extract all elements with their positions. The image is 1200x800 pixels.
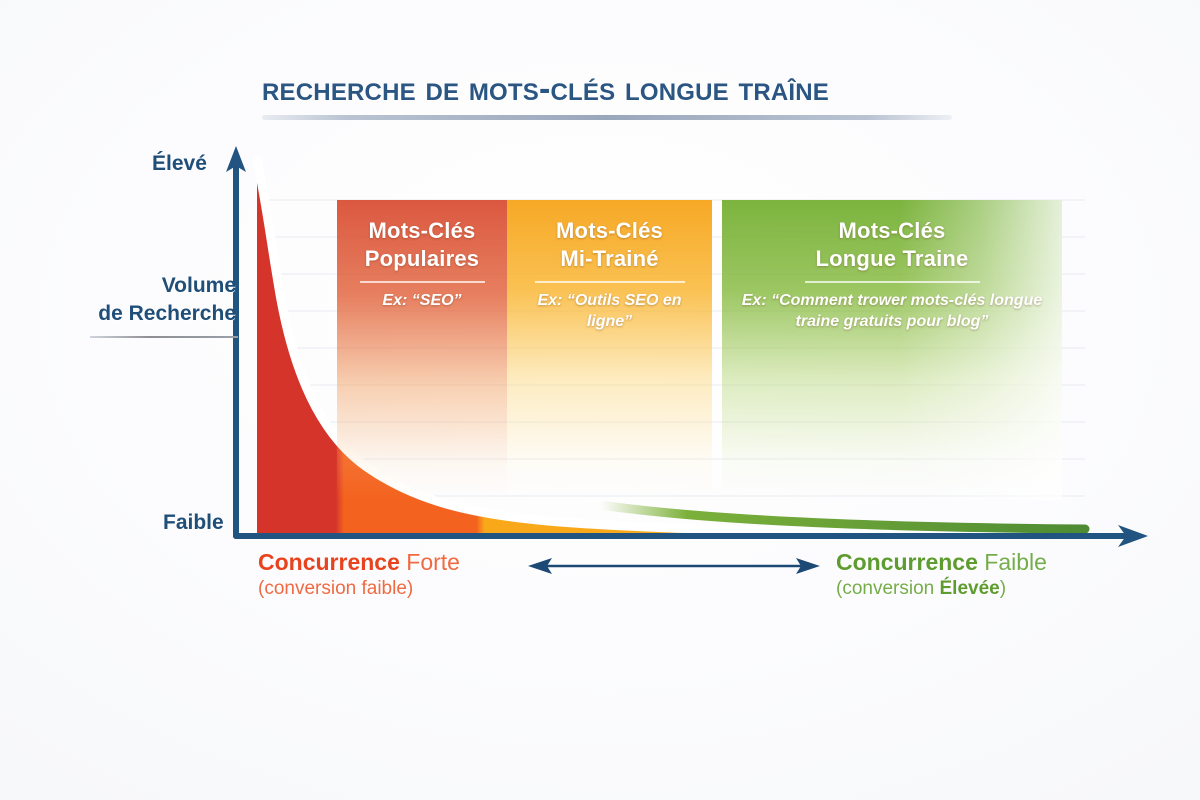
legend-left-sub: (conversion faible) (258, 577, 460, 602)
segment-title-line2: Longue Traine (816, 246, 969, 271)
segment-example: Ex: “Comment trower mots-clés longue tra… (722, 291, 1062, 333)
segment-panel-populaires[interactable]: Mots-Clés Populaires Ex: “SEO” (337, 200, 507, 500)
segment-divider (535, 281, 685, 283)
legend-right-sub-prefix: (conversion (836, 578, 940, 599)
segment-title: Mots-Clés Mi-Trainé (507, 217, 712, 272)
y-axis-high-label: Élevé (152, 152, 207, 176)
legend-left-bold: Concurrence (258, 549, 400, 575)
segment-divider (805, 281, 980, 283)
legend-right-sub-suffix: ) (1000, 578, 1006, 599)
segment-example: Ex: “Outils SEO en ligne” (507, 291, 712, 333)
infographic-canvas: Recherche de Mots-Clés Longue Traîne (0, 0, 1200, 800)
legend-high-competition: Concurrence Forte (conversion faible) (258, 548, 460, 601)
y-axis (226, 146, 246, 536)
segment-title-line1: Mots-Clés (839, 218, 946, 243)
segment-panel-mi-traine[interactable]: Mots-Clés Mi-Trainé Ex: “Outils SEO en l… (507, 200, 712, 500)
y-axis-low-label: Faible (163, 511, 224, 535)
legend-right-bold: Concurrence (836, 549, 978, 575)
segment-example: Ex: “SEO” (337, 291, 507, 312)
segment-title: Mots-Clés Longue Traine (722, 217, 1062, 272)
segment-title-line2: Populaires (365, 246, 479, 271)
segment-title-line1: Mots-Clés (369, 218, 476, 243)
competition-range-arrow (528, 558, 820, 574)
segment-title-line1: Mots-Clés (556, 218, 663, 243)
y-axis-title-line2: de Recherche (98, 302, 236, 325)
y-axis-title: Volume de Recherche (88, 272, 236, 327)
legend-right-sub-bold: Élevée (940, 578, 1000, 599)
segment-panel-longue-traine[interactable]: Mots-Clés Longue Traine Ex: “Comment tro… (722, 200, 1062, 500)
y-axis-title-line1: Volume (162, 274, 236, 297)
segment-divider (360, 281, 485, 283)
segment-title: Mots-Clés Populaires (337, 217, 507, 272)
legend-right-line1: Concurrence Faible (836, 548, 1047, 577)
segment-title-line2: Mi-Trainé (560, 246, 658, 271)
legend-right-sub: (conversion Élevée) (836, 577, 1047, 602)
legend-low-competition: Concurrence Faible (conversion Élevée) (836, 548, 1047, 601)
legend-right-rest: Faible (978, 549, 1047, 575)
legend-left-rest: Forte (400, 549, 460, 575)
legend-left-line1: Concurrence Forte (258, 548, 460, 577)
y-axis-title-underline (90, 336, 238, 338)
